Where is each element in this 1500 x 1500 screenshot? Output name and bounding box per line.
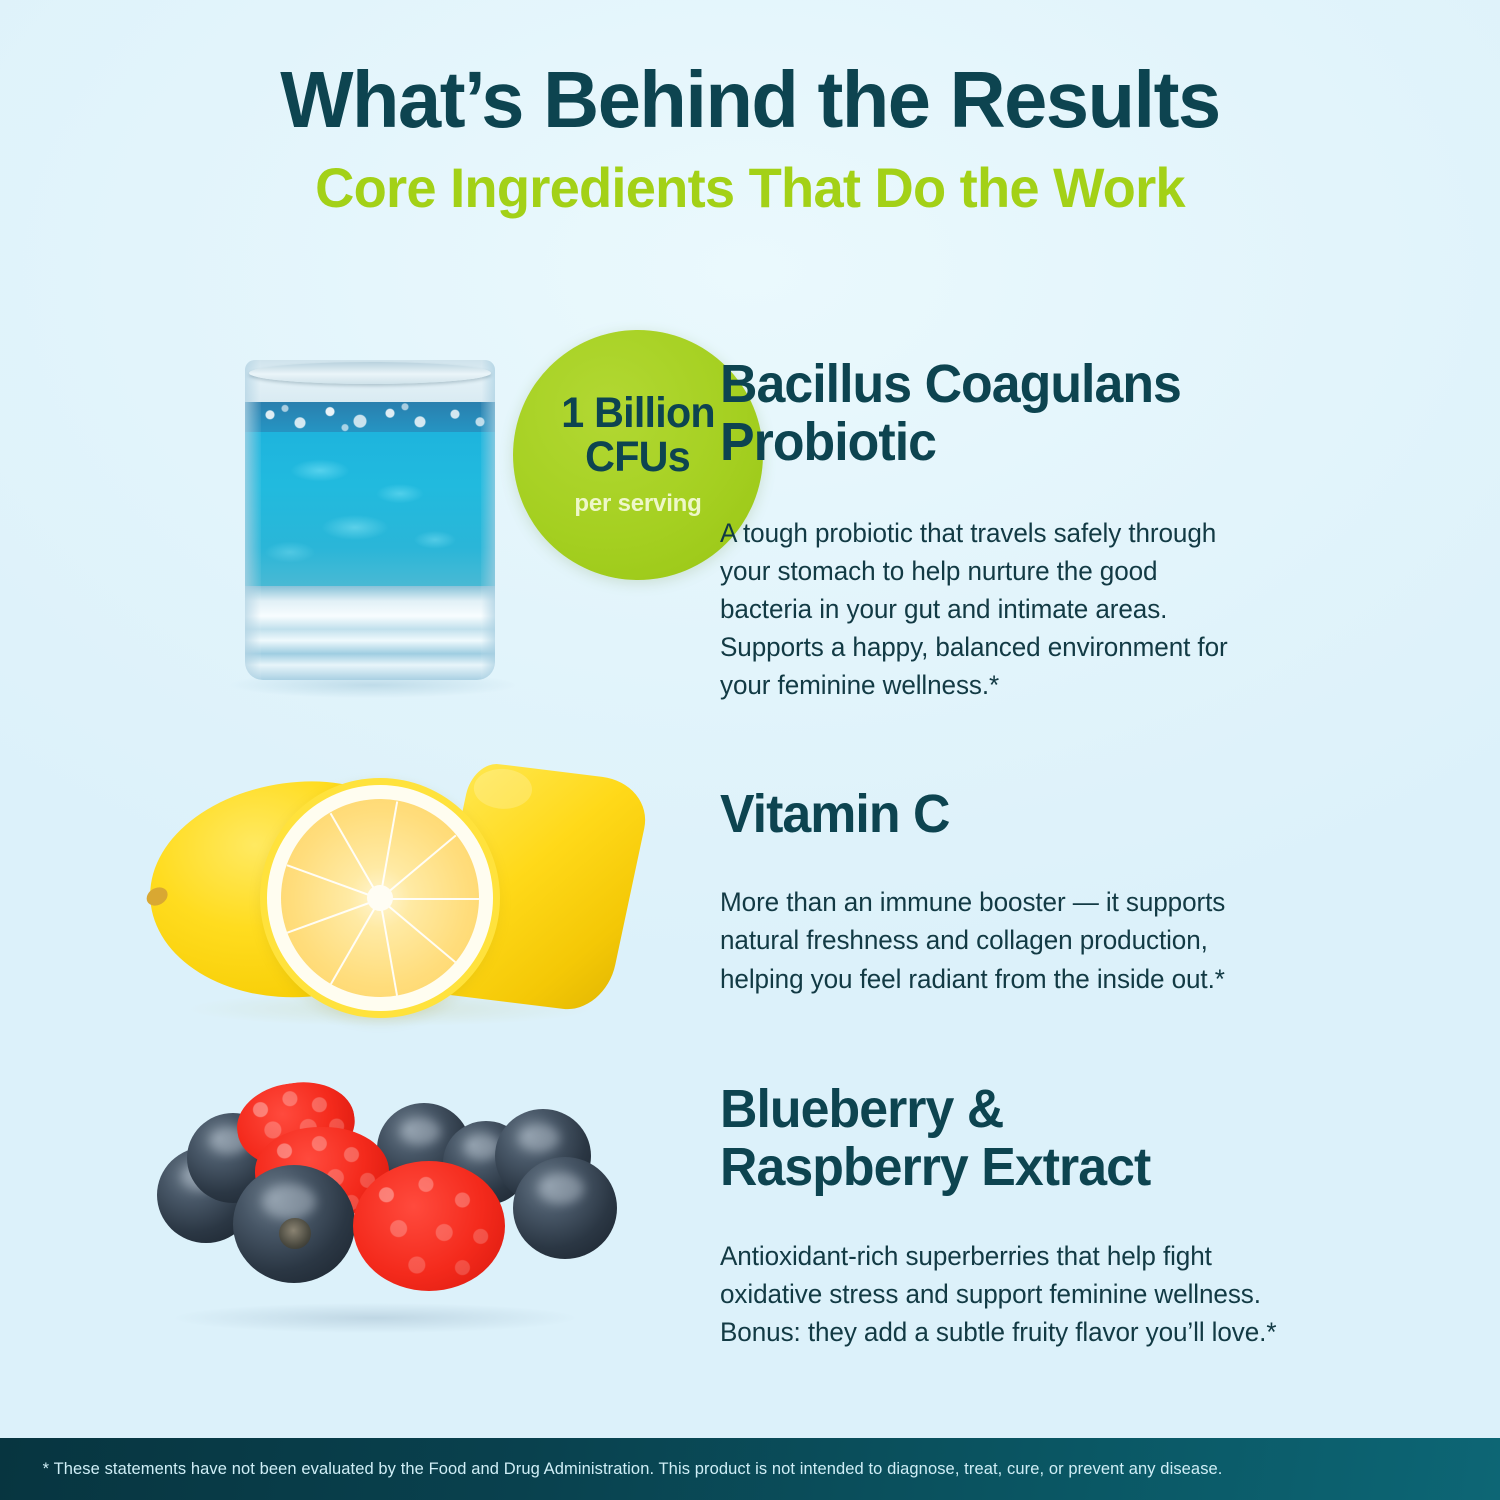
vitamin-c-description-line: More than an immune booster — it support… xyxy=(720,883,1390,921)
page-subtitle: Core Ingredients That Do the Work xyxy=(23,158,1478,218)
lemon-slice-core xyxy=(367,885,393,911)
vitamin-c-description: More than an immune booster — it support… xyxy=(720,883,1390,997)
glass-rim xyxy=(249,362,491,384)
page-title: What’s Behind the Results xyxy=(23,58,1478,142)
probiotic-description-line: A tough probiotic that travels safely th… xyxy=(720,514,1390,552)
raspberry-front xyxy=(353,1161,505,1291)
probiotic-description-line: your feminine wellness.* xyxy=(720,666,1390,704)
probiotic-heading: Bacillus Coagulans Probiotic xyxy=(720,355,1373,472)
vitamin-c-heading-line1: Vitamin C xyxy=(720,785,1373,843)
cfu-badge-subtext: per serving xyxy=(574,490,701,518)
berry-heading-line1: Blueberry & xyxy=(720,1080,1373,1138)
fda-disclaimer-text: * These statements have not been evaluat… xyxy=(0,1459,1223,1479)
berry-heading: Blueberry & Raspberry Extract xyxy=(720,1080,1373,1197)
vitamin-c-heading: Vitamin C xyxy=(720,785,1373,843)
cfu-badge-line2: CFUs xyxy=(586,436,691,480)
footer-disclaimer-bar: * These statements have not been evaluat… xyxy=(0,1438,1500,1500)
vitamin-c-description-line: natural freshness and collagen productio… xyxy=(720,921,1390,959)
berry-visual-column xyxy=(100,1065,720,1351)
probiotic-text-column: Bacillus Coagulans Probiotic A tough pro… xyxy=(720,335,1400,704)
probiotic-description: A tough probiotic that travels safely th… xyxy=(720,514,1390,705)
vitamin-c-description-line: helping you feel radiant from the inside… xyxy=(720,960,1390,998)
berry-description: Antioxidant-rich superberries that help … xyxy=(720,1237,1390,1351)
glass-left-edge xyxy=(245,360,261,680)
blueberry-calyx xyxy=(279,1218,311,1249)
vitamin-c-visual-column xyxy=(100,765,720,998)
cfu-badge-line1: 1 Billion xyxy=(561,392,715,436)
probiotic-description-line: your stomach to help nurture the good xyxy=(720,552,1390,590)
blueberries-and-raspberries-image xyxy=(125,1075,665,1355)
liquid-foam-bubbles xyxy=(245,402,495,434)
section-probiotic: 1 Billion CFUs per serving Bacillus Coag… xyxy=(100,335,1400,704)
blueberry xyxy=(513,1157,617,1259)
berry-shadow xyxy=(175,1303,575,1333)
probiotic-heading-line2: Probiotic xyxy=(720,413,1373,471)
berry-description-line: oxidative stress and support feminine we… xyxy=(720,1275,1390,1313)
glass-of-blue-probiotic-drink-image: 1 Billion CFUs per serving xyxy=(135,340,535,710)
berry-description-line: Antioxidant-rich superberries that help … xyxy=(720,1237,1390,1275)
probiotic-visual-column: 1 Billion CFUs per serving xyxy=(100,335,720,704)
infographic-page: What’s Behind the Results Core Ingredien… xyxy=(0,0,1500,1500)
probiotic-description-line: Supports a happy, balanced environment f… xyxy=(720,628,1390,666)
lemon-slice xyxy=(260,778,500,1018)
berry-text-column: Blueberry & Raspberry Extract Antioxidan… xyxy=(720,1065,1400,1351)
glass-base xyxy=(245,586,495,680)
drinking-glass xyxy=(245,360,495,680)
probiotic-description-line: bacteria in your gut and intimate areas. xyxy=(720,590,1390,628)
blueberry-front xyxy=(233,1165,355,1283)
section-vitamin-c: Vitamin C More than an immune booster — … xyxy=(100,765,1400,998)
header: What’s Behind the Results Core Ingredien… xyxy=(0,58,1500,218)
section-berry-extract: Blueberry & Raspberry Extract Antioxidan… xyxy=(100,1065,1400,1351)
glass-right-edge xyxy=(481,360,495,680)
lemon-image xyxy=(120,760,680,1050)
berry-heading-line2: Raspberry Extract xyxy=(720,1138,1373,1196)
berry-description-line: Bonus: they add a subtle fruity flavor y… xyxy=(720,1313,1390,1351)
blue-liquid xyxy=(245,432,495,586)
vitamin-c-text-column: Vitamin C More than an immune booster — … xyxy=(720,765,1400,998)
probiotic-heading-line1: Bacillus Coagulans xyxy=(720,355,1373,413)
